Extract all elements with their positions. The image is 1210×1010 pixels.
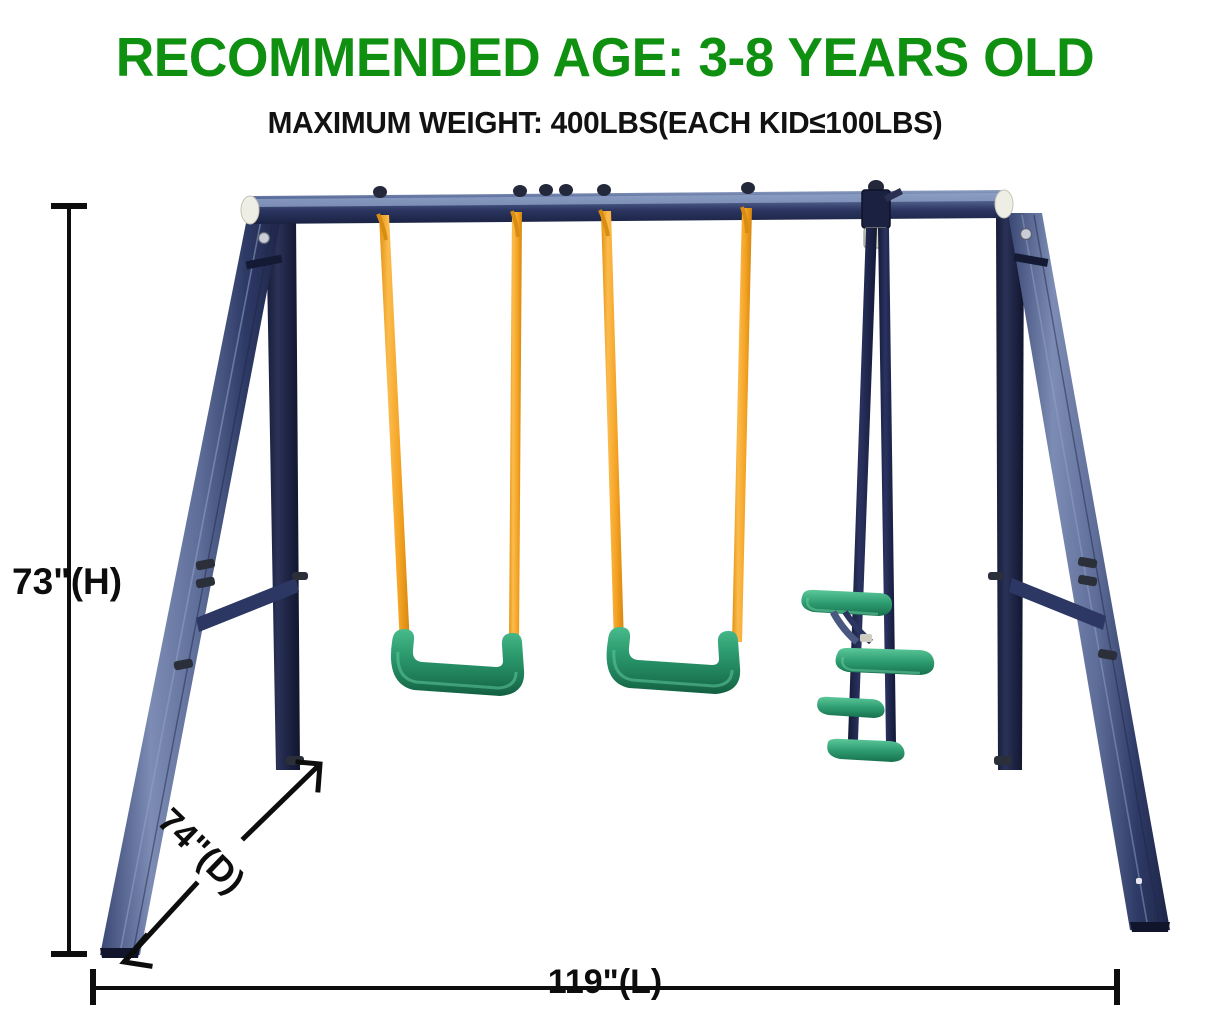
beam-end-cap-left xyxy=(241,196,259,224)
belt-swing-seat-1 xyxy=(378,211,524,696)
height-dimension-label: 73"(H) xyxy=(12,560,122,604)
belt-swing-seat-2 xyxy=(600,207,752,694)
height-dimension-tick-top xyxy=(51,203,87,209)
swing-1-strap-right xyxy=(509,212,522,644)
swing-2-strap-right xyxy=(732,208,752,642)
glider-footrest-upper xyxy=(817,697,884,718)
top-beam xyxy=(241,180,1013,224)
left-rear-leg xyxy=(266,215,300,770)
height-dimension-tick-bottom xyxy=(51,951,87,957)
swing-1-strap-left xyxy=(379,215,410,646)
swing-2-strap-left xyxy=(601,211,624,644)
right-rear-leg xyxy=(996,215,1024,770)
infographic-canvas: RECOMMENDED AGE: 3-8 YEARS OLD MAXIMUM W… xyxy=(0,0,1210,1010)
length-dimension-label: 119"(L) xyxy=(0,962,1210,1002)
glider-swing xyxy=(801,188,934,762)
beam-end-cap-right xyxy=(995,190,1013,218)
right-front-leg xyxy=(1008,213,1170,930)
glider-footrest-lower xyxy=(827,739,904,762)
right-a-frame xyxy=(988,213,1170,932)
